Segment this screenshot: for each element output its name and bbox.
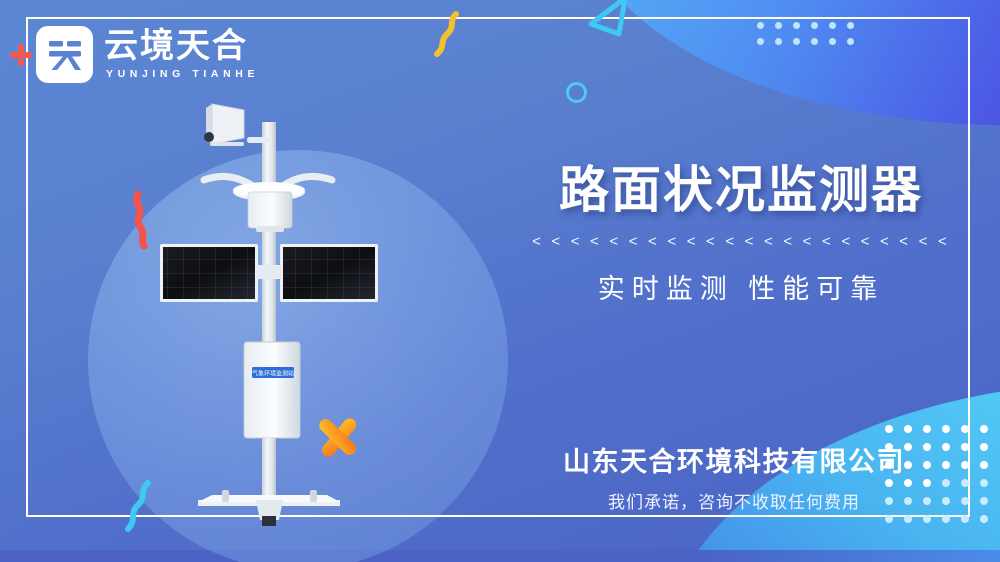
brand-name-cn: 云境天合	[104, 29, 259, 65]
plus-icon	[8, 42, 34, 68]
poster-canvas: 云境天合 YUNJING TIANHE	[0, 0, 1000, 562]
brand-name-en: YUNJING TIANHE	[104, 68, 259, 80]
product-image: 气象环境监测站	[152, 92, 402, 532]
footer-text-block: 山东天合环境科技有限公司 我们承诺，咨询不收取任何费用	[524, 440, 944, 513]
brand-logo[interactable]: 云境天合 YUNJING TIANHE	[36, 26, 259, 83]
dot-grid-top	[757, 22, 865, 54]
hero-subtitle: 实时监测 性能可靠	[526, 267, 956, 306]
triangle-outline-icon	[585, 0, 631, 43]
squiggle-icon-yellow	[430, 10, 464, 63]
background-bottom-strip	[0, 550, 1000, 562]
company-name: 山东天合环境科技有限公司	[524, 440, 944, 479]
squiggle-icon-cyan	[120, 478, 156, 539]
circle-outline-icon	[566, 82, 587, 103]
company-promise: 我们承诺，咨询不收取任何费用	[524, 488, 944, 513]
svg-text:气象环境监测站: 气象环境监测站	[252, 370, 294, 378]
chevron-divider: < < < < < < < < < < < < < < < < < < < < …	[526, 234, 956, 249]
page-title: 路面状况监测器	[526, 162, 956, 218]
hero-text-block: 路面状况监测器 < < < < < < < < < < < < < < < < …	[526, 162, 956, 306]
logo-mark-icon	[36, 26, 93, 83]
brand-logo-text: 云境天合 YUNJING TIANHE	[104, 29, 259, 80]
